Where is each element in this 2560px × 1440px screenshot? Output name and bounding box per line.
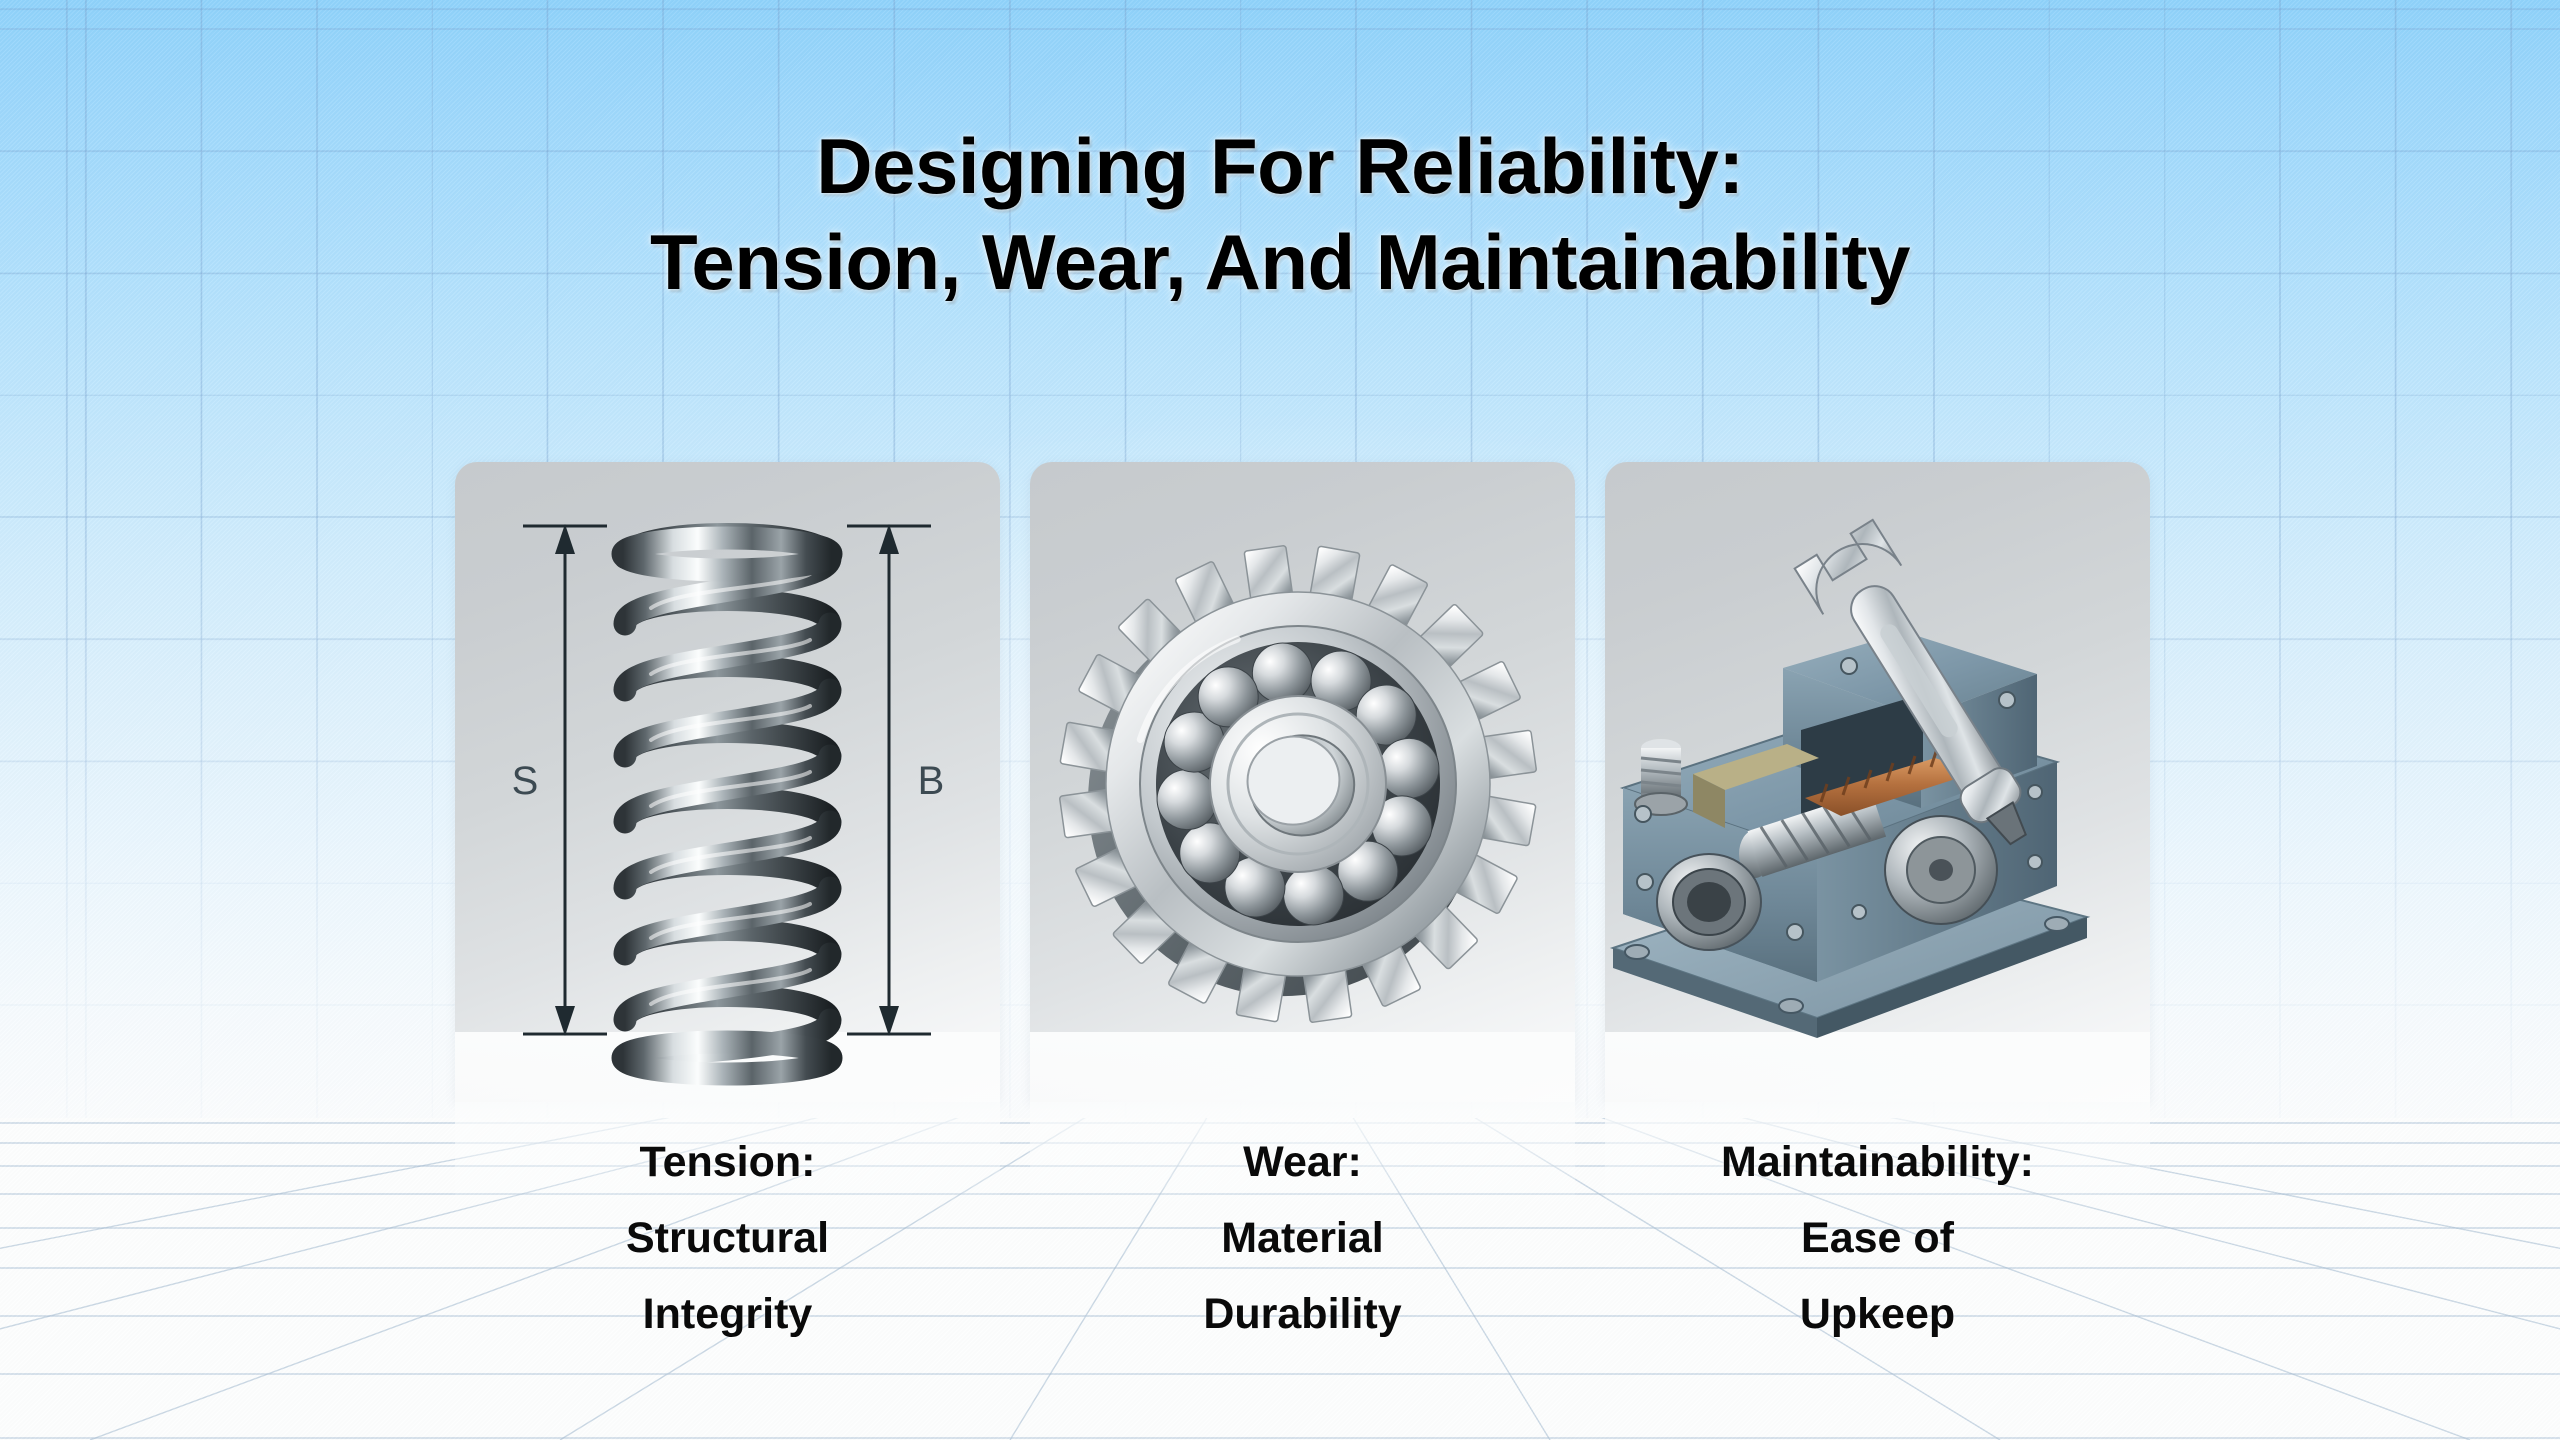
dimension-label-b: B [918, 759, 945, 803]
card-caption-line-1: Maintainability: [1605, 1124, 2150, 1200]
card-art-wear [1030, 462, 1575, 1102]
coil-spring-icon [623, 534, 831, 1074]
gear-bearing-icon [1030, 515, 1567, 1053]
concept-card-maintainability[interactable]: Maintainability: Ease of Upkeep [1605, 462, 2150, 1382]
card-caption-line-3: Integrity [455, 1276, 1000, 1352]
card-caption-wear: Wear: Material Durability [1030, 1124, 1575, 1352]
page-title-line-1: Designing For Reliability: [0, 118, 2560, 214]
card-caption-line-1: Wear: [1030, 1124, 1575, 1200]
card-caption-line-3: Upkeep [1605, 1276, 2150, 1352]
gearbox-wrench-icon [1613, 520, 2087, 1038]
infographic-slide: Designing For Reliability: Tension, Wear… [0, 0, 2560, 1440]
page-title: Designing For Reliability: Tension, Wear… [0, 118, 2560, 310]
dimension-label-s: S [512, 759, 539, 803]
card-caption-line-2: Structural [455, 1200, 1000, 1276]
card-caption-line-3: Durability [1030, 1276, 1575, 1352]
card-caption-line-2: Material [1030, 1200, 1575, 1276]
card-caption-line-1: Tension: [455, 1124, 1000, 1200]
card-art-tension: S B [455, 462, 1000, 1102]
card-caption-tension: Tension: Structural Integrity [455, 1124, 1000, 1352]
card-caption-maintainability: Maintainability: Ease of Upkeep [1605, 1124, 2150, 1352]
card-art-maintainability [1605, 462, 2150, 1102]
page-title-line-2: Tension, Wear, And Maintainability [0, 214, 2560, 310]
concept-card-wear[interactable]: Wear: Material Durability [1030, 462, 1575, 1382]
concept-card-row: S B [455, 462, 2150, 1382]
concept-card-tension[interactable]: S B [455, 462, 1000, 1382]
card-caption-line-2: Ease of [1605, 1200, 2150, 1276]
